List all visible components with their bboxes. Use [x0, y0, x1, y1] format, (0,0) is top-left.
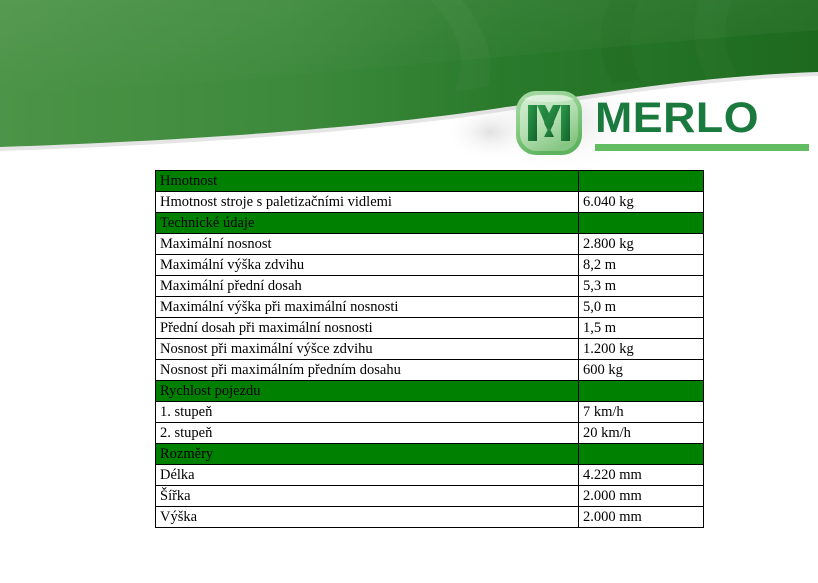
specification-table-body: HmotnostHmotnost stroje s paletizačními … — [156, 171, 704, 528]
spec-section-title: Technické údaje — [156, 213, 579, 234]
spec-data-row: Maximální výška zdvihu8,2 m — [156, 255, 704, 276]
spec-data-row: Přední dosah při maximální nosnosti1,5 m — [156, 318, 704, 339]
spec-data-row: Nosnost při maximálním předním dosahu600… — [156, 360, 704, 381]
spec-section-header-row: Hmotnost — [156, 171, 704, 192]
spec-value-cell: 6.040 kg — [579, 192, 704, 213]
merlo-logo: MERLO — [513, 85, 813, 161]
spec-label-cell: 2. stupeň — [156, 423, 579, 444]
spec-value-cell: 1,5 m — [579, 318, 704, 339]
spec-section-header-row: Rozměry — [156, 444, 704, 465]
spec-value-cell: 7 km/h — [579, 402, 704, 423]
spec-data-row: Šířka2.000 mm — [156, 486, 704, 507]
spec-value-cell: 4.220 mm — [579, 465, 704, 486]
spec-section-value-cell — [579, 381, 704, 402]
spec-value-cell: 2.000 mm — [579, 486, 704, 507]
spec-data-row: 1. stupeň7 km/h — [156, 402, 704, 423]
spec-data-row: Hmotnost stroje s paletizačními vidlemi6… — [156, 192, 704, 213]
spec-section-value-cell — [579, 213, 704, 234]
merlo-m-monogram-icon — [513, 87, 585, 159]
monogram-glyph — [528, 105, 570, 141]
spec-label-cell: Maximální nosnost — [156, 234, 579, 255]
spec-value-cell: 600 kg — [579, 360, 704, 381]
spec-value-cell: 2.800 kg — [579, 234, 704, 255]
spec-section-title: Rychlost pojezdu — [156, 381, 579, 402]
spec-section-value-cell — [579, 171, 704, 192]
spec-data-row: Maximální nosnost2.800 kg — [156, 234, 704, 255]
spec-data-row: Délka4.220 mm — [156, 465, 704, 486]
spec-section-title: Hmotnost — [156, 171, 579, 192]
spec-label-cell: Délka — [156, 465, 579, 486]
merlo-badge-shape — [513, 87, 585, 159]
spec-label-cell: 1. stupeň — [156, 402, 579, 423]
spec-data-row: Maximální výška při maximální nosnosti5,… — [156, 297, 704, 318]
spec-label-cell: Maximální výška zdvihu — [156, 255, 579, 276]
spec-value-cell: 20 km/h — [579, 423, 704, 444]
spec-label-cell: Výška — [156, 507, 579, 528]
merlo-wordmark-text: MERLO — [595, 96, 818, 140]
spec-section-header-row: Rychlost pojezdu — [156, 381, 704, 402]
merlo-wordmark: MERLO — [595, 96, 809, 151]
spec-label-cell: Nosnost při maximálním předním dosahu — [156, 360, 579, 381]
spec-data-row: Nosnost při maximální výšce zdvihu1.200 … — [156, 339, 704, 360]
spec-data-row: 2. stupeň20 km/h — [156, 423, 704, 444]
spec-value-cell: 2.000 mm — [579, 507, 704, 528]
spec-label-cell: Hmotnost stroje s paletizačními vidlemi — [156, 192, 579, 213]
specification-table-container: HmotnostHmotnost stroje s paletizačními … — [155, 170, 703, 528]
spec-value-cell: 5,0 m — [579, 297, 704, 318]
specification-table: HmotnostHmotnost stroje s paletizačními … — [155, 170, 704, 528]
spec-label-cell: Nosnost při maximální výšce zdvihu — [156, 339, 579, 360]
spec-section-header-row: Technické údaje — [156, 213, 704, 234]
spec-section-value-cell — [579, 444, 704, 465]
spec-data-row: Maximální přední dosah5,3 m — [156, 276, 704, 297]
merlo-underline-bar — [595, 144, 809, 151]
spec-value-cell: 1.200 kg — [579, 339, 704, 360]
spec-data-row: Výška2.000 mm — [156, 507, 704, 528]
spec-value-cell: 5,3 m — [579, 276, 704, 297]
spec-label-cell: Přední dosah při maximální nosnosti — [156, 318, 579, 339]
spec-label-cell: Šířka — [156, 486, 579, 507]
spec-section-title: Rozměry — [156, 444, 579, 465]
spec-value-cell: 8,2 m — [579, 255, 704, 276]
spec-label-cell: Maximální přední dosah — [156, 276, 579, 297]
spec-label-cell: Maximální výška při maximální nosnosti — [156, 297, 579, 318]
